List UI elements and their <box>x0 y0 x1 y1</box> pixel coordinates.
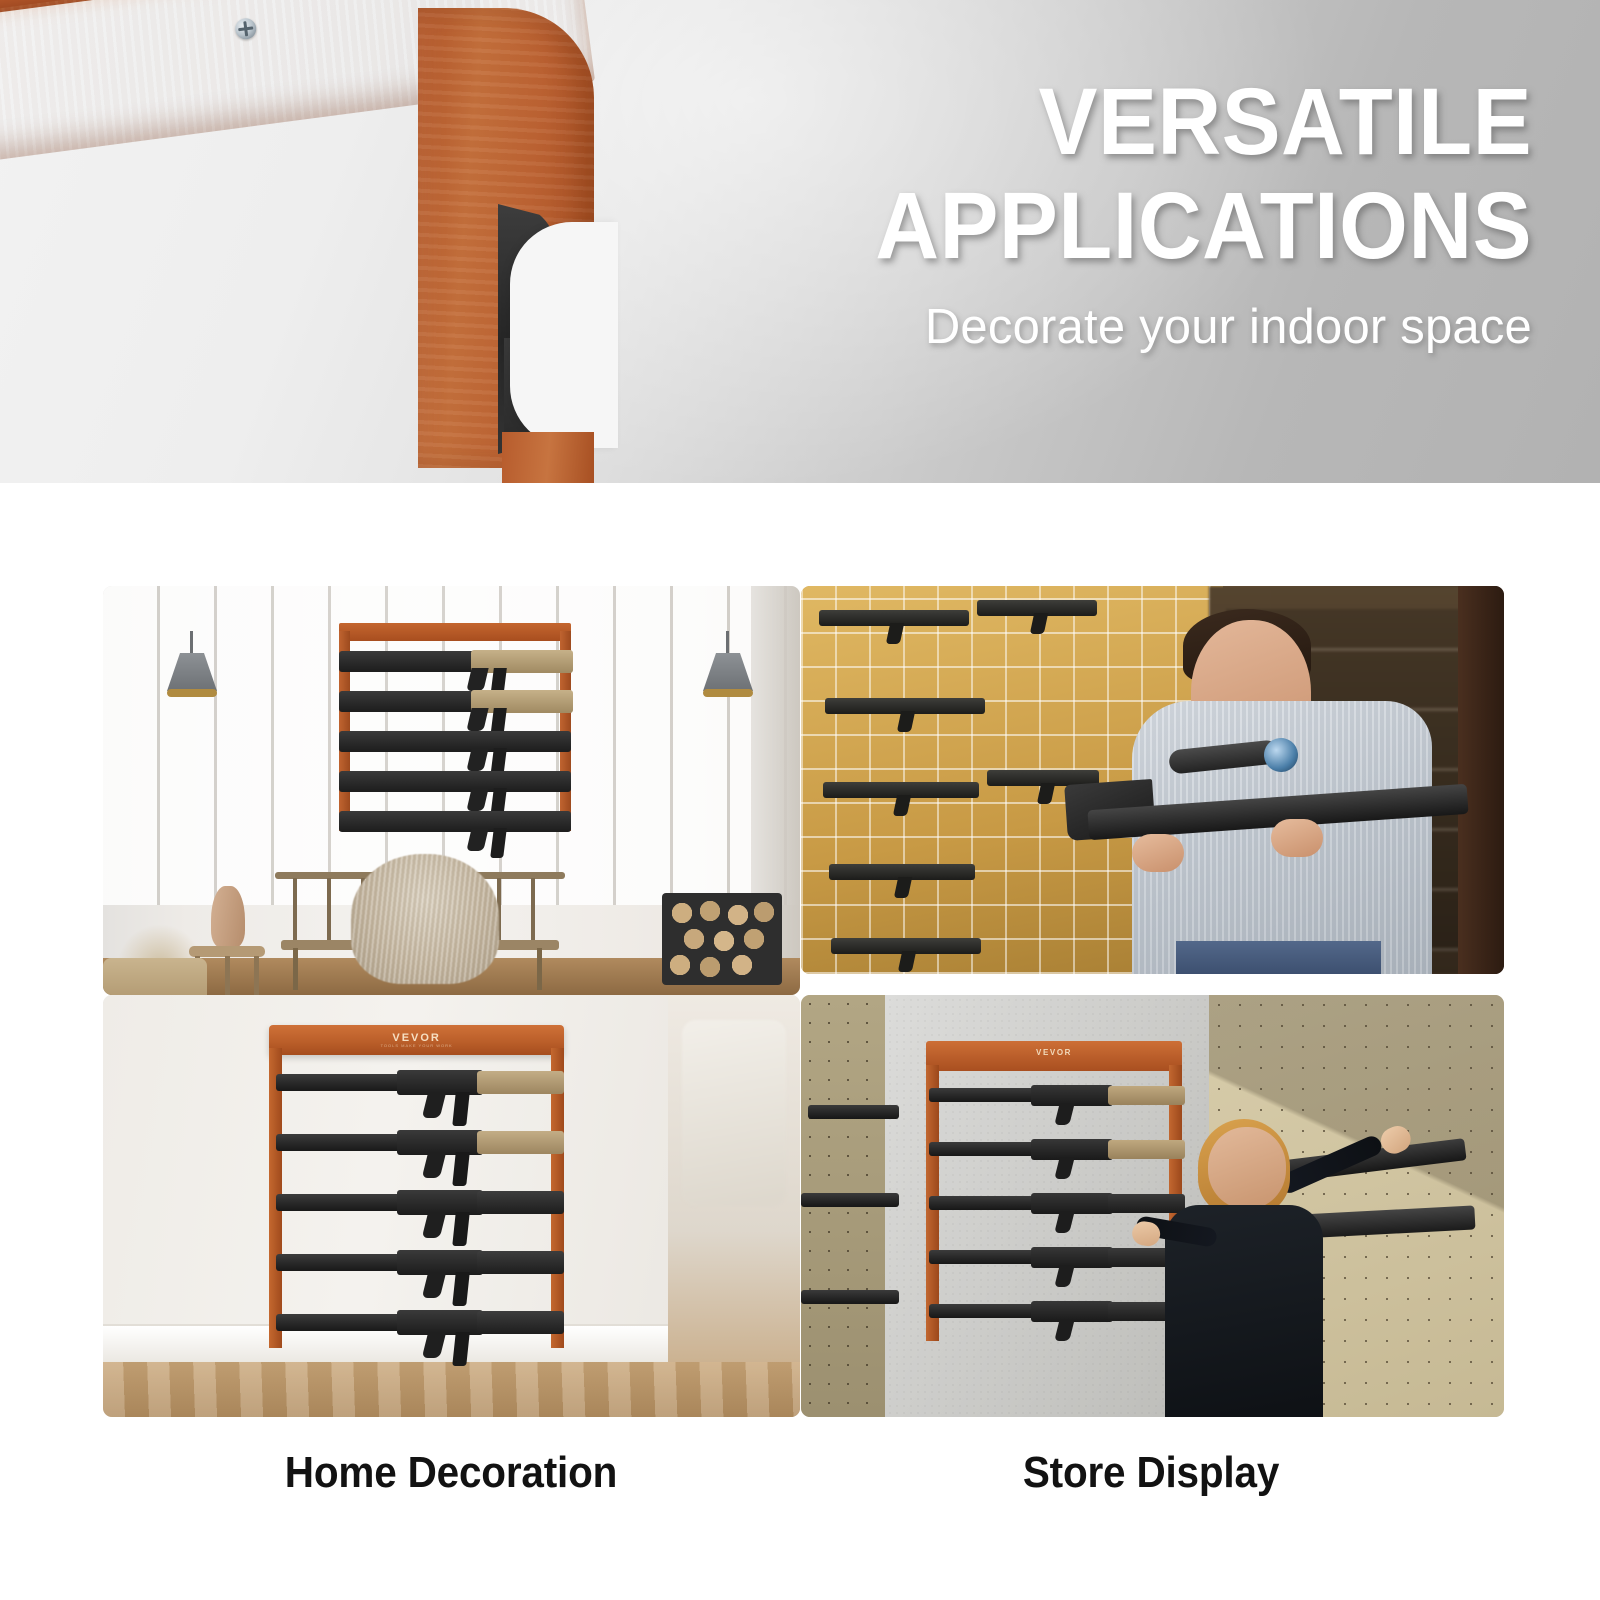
woven-basket <box>103 958 207 995</box>
wall-gun-rack <box>331 623 579 838</box>
wall-rifle <box>825 698 985 714</box>
rack-row <box>276 1068 564 1098</box>
head <box>1208 1127 1286 1209</box>
fur-throw-blanket <box>351 854 499 984</box>
gallery-cell-gun-store-customer[interactable] <box>801 586 1504 974</box>
rack-row <box>276 1128 564 1158</box>
product-photo-gun-rack <box>0 0 730 480</box>
gallery-cell-home-rack-closeup[interactable]: VEVOR TOOLS MAKE YOUR WORK <box>103 995 800 1417</box>
rack-row <box>276 1188 564 1218</box>
upright-lip <box>502 432 594 483</box>
hero-copy: VERSATILE APPLICATIONS Decorate your ind… <box>732 78 1532 355</box>
sofa <box>682 1020 787 1206</box>
rifle <box>339 691 571 712</box>
wall-rifle <box>831 938 981 954</box>
hand <box>1132 834 1184 872</box>
vevor-logo: VEVOR <box>926 1048 1182 1057</box>
wood-floor <box>103 1362 800 1417</box>
scene-home-rack: VEVOR TOOLS MAKE YOUR WORK <box>103 995 800 1417</box>
gallery-grid: VEVOR TOOLS MAKE YOUR WORK <box>0 483 1600 1600</box>
hand <box>1130 1220 1162 1248</box>
hero-subtitle: Decorate your indoor space <box>732 299 1532 355</box>
wall-gun-rack: VEVOR TOOLS MAKE YOUR WORK <box>263 1025 570 1358</box>
caption-home-decoration: Home Decoration <box>129 1448 773 1498</box>
caption-store-display: Store Display <box>829 1448 1473 1498</box>
rifle <box>339 811 571 832</box>
scene-store-display: VEVOR <box>801 995 1504 1417</box>
rack-upright <box>418 8 608 468</box>
rifle <box>339 651 571 672</box>
rack-header-board: VEVOR TOOLS MAKE YOUR WORK <box>269 1025 563 1055</box>
wall-rifle <box>977 600 1097 616</box>
rack-header-board: VEVOR <box>926 1041 1182 1071</box>
rack-row <box>929 1083 1185 1109</box>
rack-header-board <box>339 623 571 641</box>
wall-rifle <box>801 1193 899 1207</box>
firewood-stack <box>662 893 782 985</box>
vevor-tagline: TOOLS MAKE YOUR WORK <box>269 1043 563 1048</box>
hero-banner: VERSATILE APPLICATIONS Decorate your ind… <box>0 0 1600 483</box>
gallery-cell-store-pegboard-display[interactable]: VEVOR <box>801 995 1504 1417</box>
hand <box>1271 819 1323 857</box>
wall-rifle <box>819 610 969 626</box>
gallery-cell-home-living-room[interactable] <box>103 586 800 995</box>
sconce-lamp-icon <box>161 631 223 703</box>
rack-notch-cutout <box>510 222 618 448</box>
pottery-vase <box>211 886 245 948</box>
wooden-bench <box>275 848 565 988</box>
rack-row <box>276 1248 564 1278</box>
wall-rifle <box>823 782 979 798</box>
jeans <box>1176 941 1381 974</box>
scene-home-living-room <box>103 586 800 995</box>
headline-line-2: APPLICATIONS <box>788 182 1532 270</box>
wall-rifle <box>808 1105 899 1119</box>
rifle <box>339 771 571 792</box>
wall-rifle <box>829 864 975 880</box>
wall-rifle <box>801 1290 899 1304</box>
scene-gun-store <box>801 586 1504 974</box>
headline-line-1: VERSATILE <box>788 78 1532 166</box>
store-staff-person <box>1131 1138 1370 1417</box>
sconce-lamp-icon <box>697 631 759 703</box>
rifle <box>339 731 571 752</box>
store-customer <box>1110 605 1476 974</box>
rack-row <box>276 1308 564 1338</box>
